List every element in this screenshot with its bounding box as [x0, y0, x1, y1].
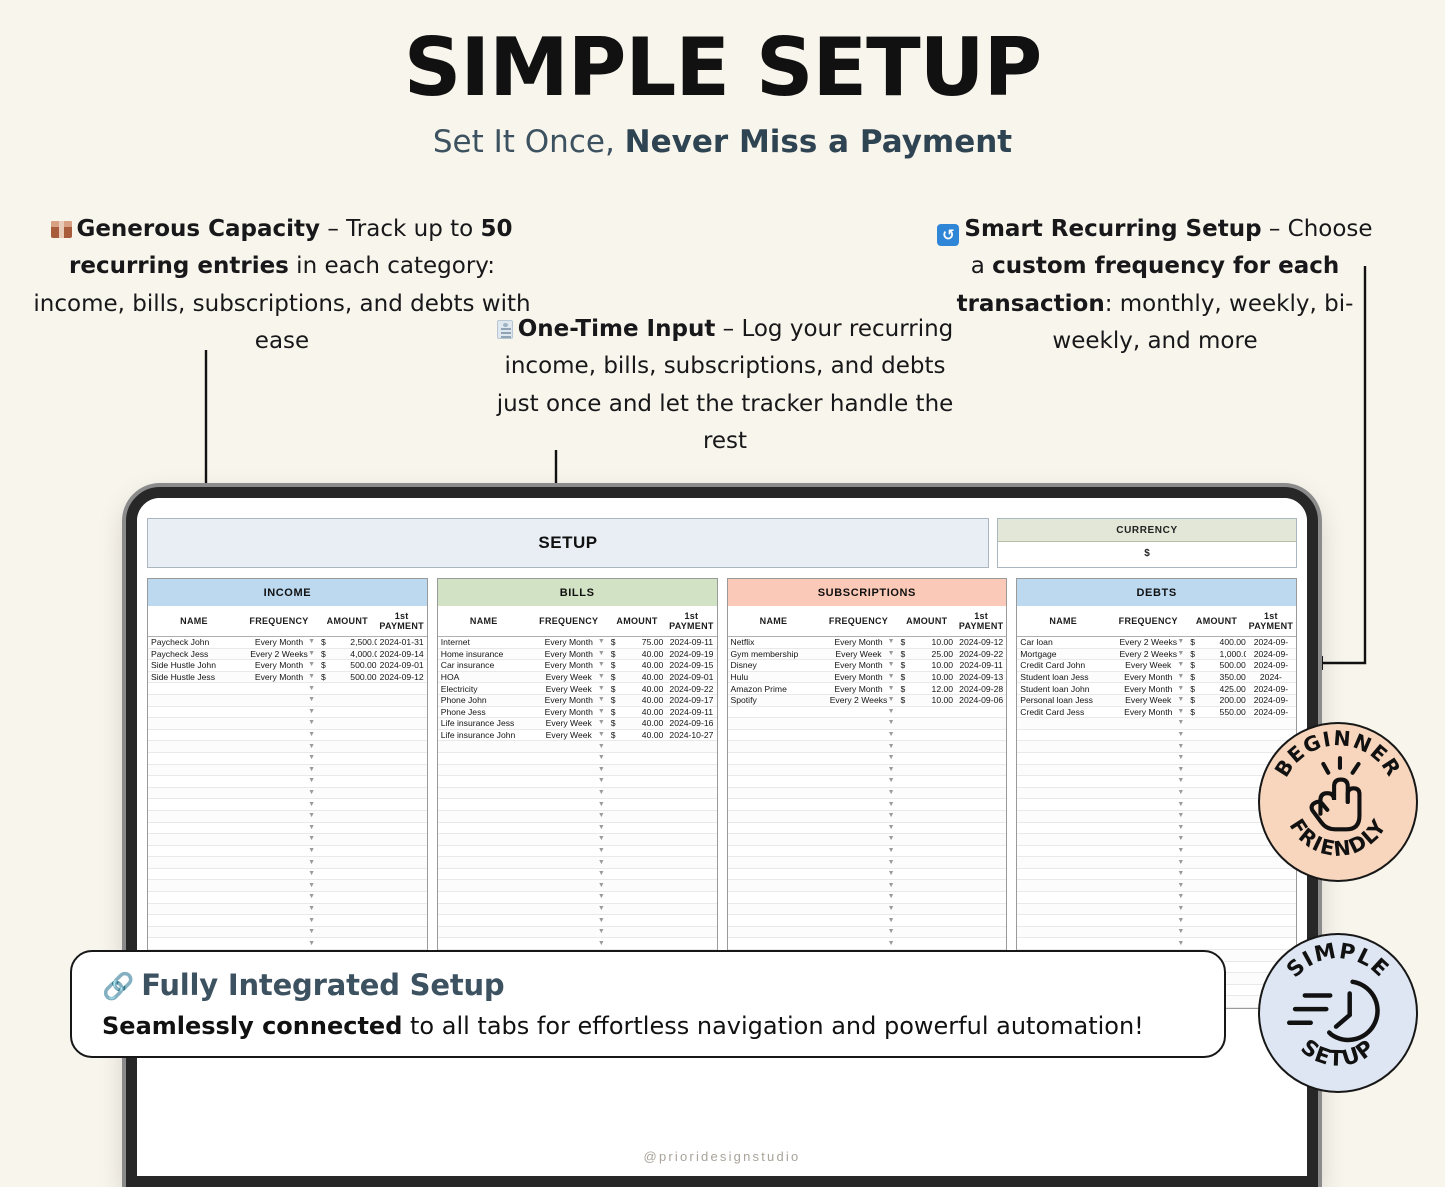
cell-frequency[interactable]: Every Week▼	[1109, 660, 1187, 672]
cell-amount[interactable]	[347, 857, 376, 869]
cell-first-payment[interactable]	[956, 752, 1006, 764]
table-row-empty[interactable]: ▼	[1017, 845, 1296, 857]
chevron-down-icon[interactable]: ▼	[1177, 743, 1184, 750]
chevron-down-icon[interactable]: ▼	[598, 743, 605, 750]
cell-name[interactable]: Spotify	[728, 694, 820, 706]
table-row-empty[interactable]: ▼	[1017, 752, 1296, 764]
table-row-empty[interactable]: ▼	[438, 834, 717, 846]
cell-first-payment[interactable]	[377, 938, 427, 950]
table-row-empty[interactable]: ▼	[438, 892, 717, 904]
cell-name[interactable]: Student loan John	[1017, 683, 1109, 695]
chevron-down-icon[interactable]: ▼	[888, 870, 895, 877]
column-header-1st-payment[interactable]: 1st PAYMENT	[666, 606, 716, 637]
cell-frequency[interactable]: ▼	[1109, 799, 1187, 811]
chevron-down-icon[interactable]: ▼	[1177, 650, 1184, 657]
cell-frequency[interactable]: ▼	[819, 729, 897, 741]
cell-name[interactable]: Side Hustle Jess	[148, 671, 240, 683]
cell-frequency[interactable]: Every Week▼	[530, 683, 608, 695]
table-row[interactable]: Amazon PrimeEvery Month▼$12.002024-09-28	[728, 683, 1007, 695]
cell-name[interactable]	[728, 892, 820, 904]
cell-amount[interactable]: 40.00	[637, 706, 666, 718]
cell-first-payment[interactable]	[956, 845, 1006, 857]
cell-name[interactable]	[728, 903, 820, 915]
table-row-empty[interactable]: ▼	[728, 892, 1007, 904]
table-row-empty[interactable]: ▼	[1017, 926, 1296, 938]
cell-frequency[interactable]: Every Month▼	[819, 637, 897, 649]
chevron-down-icon[interactable]: ▼	[1177, 638, 1184, 645]
table-row-empty[interactable]: ▼	[728, 729, 1007, 741]
cell-first-payment[interactable]	[956, 810, 1006, 822]
chevron-down-icon[interactable]: ▼	[888, 928, 895, 935]
table-row-empty[interactable]: ▼	[148, 787, 427, 799]
cell-name[interactable]	[728, 706, 820, 718]
cell-name[interactable]: Electricity	[438, 683, 530, 695]
cell-amount[interactable]: 12.00	[927, 683, 956, 695]
cell-frequency[interactable]: ▼	[1109, 810, 1187, 822]
table-row-empty[interactable]: ▼	[438, 880, 717, 892]
cell-first-payment[interactable]	[377, 926, 427, 938]
cell-first-payment[interactable]	[377, 718, 427, 730]
chevron-down-icon[interactable]: ▼	[598, 859, 605, 866]
chevron-down-icon[interactable]: ▼	[308, 708, 315, 715]
chevron-down-icon[interactable]: ▼	[598, 766, 605, 773]
cell-frequency[interactable]: ▼	[240, 810, 318, 822]
table-row-empty[interactable]: ▼	[728, 880, 1007, 892]
chevron-down-icon[interactable]: ▼	[1177, 905, 1184, 912]
cell-frequency[interactable]: ▼	[819, 706, 897, 718]
cell-first-payment[interactable]: 2024-09-01	[377, 660, 427, 672]
cell-name[interactable]	[1017, 915, 1109, 927]
currency-box[interactable]: CURRENCY $	[997, 518, 1297, 568]
cell-first-payment[interactable]: 2024-09-28	[956, 683, 1006, 695]
chevron-down-icon[interactable]: ▼	[888, 696, 895, 703]
table-row[interactable]: Gym membershipEvery Week▼$25.002024-09-2…	[728, 648, 1007, 660]
cell-first-payment[interactable]	[666, 764, 716, 776]
cell-frequency[interactable]: ▼	[819, 880, 897, 892]
chevron-down-icon[interactable]: ▼	[888, 789, 895, 796]
table-row-empty[interactable]: ▼	[1017, 810, 1296, 822]
chevron-down-icon[interactable]: ▼	[598, 708, 605, 715]
cell-frequency[interactable]: Every Month▼	[240, 671, 318, 683]
table-row-empty[interactable]: ▼	[148, 752, 427, 764]
chevron-down-icon[interactable]: ▼	[888, 882, 895, 889]
chevron-down-icon[interactable]: ▼	[308, 859, 315, 866]
cell-first-payment[interactable]	[956, 822, 1006, 834]
cell-frequency[interactable]: ▼	[240, 926, 318, 938]
table-row-empty[interactable]: ▼	[1017, 787, 1296, 799]
cell-frequency[interactable]: ▼	[240, 903, 318, 915]
chevron-down-icon[interactable]: ▼	[888, 743, 895, 750]
cell-frequency[interactable]: ▼	[819, 776, 897, 788]
table-row-empty[interactable]: ▼	[438, 868, 717, 880]
cell-amount[interactable]: 40.00	[637, 683, 666, 695]
cell-frequency[interactable]: ▼	[240, 915, 318, 927]
cell-amount[interactable]	[927, 706, 956, 718]
column-header-name[interactable]: NAME	[728, 606, 820, 637]
column-header-amount[interactable]: AMOUNT	[898, 606, 957, 637]
table-row-empty[interactable]: ▼	[438, 799, 717, 811]
cell-name[interactable]	[438, 741, 530, 753]
table-row-empty[interactable]: ▼	[728, 764, 1007, 776]
cell-frequency[interactable]: Every Month▼	[530, 706, 608, 718]
cell-first-payment[interactable]	[666, 799, 716, 811]
table-row[interactable]: Credit Card JohnEvery Week▼$500.002024-0…	[1017, 660, 1296, 672]
cell-name[interactable]	[1017, 903, 1109, 915]
cell-amount[interactable]: 400.00	[1217, 637, 1246, 649]
chevron-down-icon[interactable]: ▼	[888, 662, 895, 669]
table-row-empty[interactable]: ▼	[1017, 880, 1296, 892]
cell-first-payment[interactable]	[377, 822, 427, 834]
cell-amount[interactable]	[637, 880, 666, 892]
cell-name[interactable]: Credit Card John	[1017, 660, 1109, 672]
chevron-down-icon[interactable]: ▼	[888, 708, 895, 715]
table-row-empty[interactable]: ▼	[438, 741, 717, 753]
cell-frequency[interactable]: ▼	[819, 868, 897, 880]
cell-first-payment[interactable]	[377, 729, 427, 741]
cell-name[interactable]	[728, 845, 820, 857]
table-row-empty[interactable]: ▼	[438, 845, 717, 857]
cell-frequency[interactable]: ▼	[1109, 834, 1187, 846]
cell-frequency[interactable]: Every Month▼	[819, 671, 897, 683]
cell-name[interactable]	[148, 810, 240, 822]
table-row-empty[interactable]: ▼	[728, 926, 1007, 938]
cell-frequency[interactable]: ▼	[1109, 776, 1187, 788]
chevron-down-icon[interactable]: ▼	[308, 720, 315, 727]
cell-frequency[interactable]: ▼	[819, 741, 897, 753]
chevron-down-icon[interactable]: ▼	[1177, 731, 1184, 738]
cell-amount[interactable]: 75.00	[637, 637, 666, 649]
cell-amount[interactable]: 2,500.00	[347, 637, 376, 649]
cell-first-payment[interactable]: 2024-10-27	[666, 729, 716, 741]
chevron-down-icon[interactable]: ▼	[1177, 894, 1184, 901]
table-row-empty[interactable]: ▼	[1017, 741, 1296, 753]
chevron-down-icon[interactable]: ▼	[1177, 673, 1184, 680]
cell-first-payment[interactable]	[666, 926, 716, 938]
cell-frequency[interactable]: ▼	[530, 810, 608, 822]
cell-amount[interactable]	[1217, 822, 1246, 834]
cell-first-payment[interactable]: 2024-09-11	[666, 706, 716, 718]
chevron-down-icon[interactable]: ▼	[1177, 824, 1184, 831]
table-row-empty[interactable]: ▼	[1017, 764, 1296, 776]
cell-first-payment[interactable]: 2024-09-	[1246, 706, 1296, 718]
chevron-down-icon[interactable]: ▼	[308, 638, 315, 645]
cell-amount[interactable]	[927, 729, 956, 741]
cell-name[interactable]: HOA	[438, 671, 530, 683]
table-row-empty[interactable]: ▼	[728, 810, 1007, 822]
cell-frequency[interactable]: ▼	[240, 845, 318, 857]
cell-first-payment[interactable]: 2024-09-15	[666, 660, 716, 672]
cell-frequency[interactable]: ▼	[1109, 741, 1187, 753]
cell-name[interactable]	[438, 880, 530, 892]
cell-frequency[interactable]: ▼	[530, 776, 608, 788]
table-row[interactable]: Paycheck JohnEvery Month▼$2,500.002024-0…	[148, 637, 427, 649]
cell-name[interactable]	[148, 764, 240, 776]
table-row-empty[interactable]: ▼	[148, 706, 427, 718]
table-subscriptions[interactable]: NAMEFREQUENCYAMOUNT1st PAYMENTNetflixEve…	[728, 606, 1007, 1008]
cell-first-payment[interactable]: 2024-09-22	[666, 683, 716, 695]
cell-amount[interactable]	[637, 857, 666, 869]
table-row-empty[interactable]: ▼	[148, 938, 427, 950]
cell-frequency[interactable]: Every 2 Weeks▼	[819, 694, 897, 706]
table-row-empty[interactable]: ▼	[728, 903, 1007, 915]
table-row[interactable]: Phone JohnEvery Month▼$40.002024-09-17	[438, 694, 717, 706]
cell-first-payment[interactable]	[956, 706, 1006, 718]
column-header-amount[interactable]: AMOUNT	[318, 606, 377, 637]
cell-first-payment[interactable]: 2024-09-11	[666, 637, 716, 649]
cell-first-payment[interactable]: 2024-09-22	[956, 648, 1006, 660]
table-debts[interactable]: NAMEFREQUENCYAMOUNT1st PAYMENTCar loanEv…	[1017, 606, 1296, 1008]
table-row[interactable]: Credit Card JessEvery Month▼$550.002024-…	[1017, 706, 1296, 718]
cell-first-payment[interactable]	[956, 892, 1006, 904]
cell-amount[interactable]	[347, 776, 376, 788]
table-row-empty[interactable]: ▼	[148, 822, 427, 834]
chevron-down-icon[interactable]: ▼	[308, 836, 315, 843]
table-row-empty[interactable]: ▼	[1017, 718, 1296, 730]
cell-first-payment[interactable]	[666, 741, 716, 753]
cell-name[interactable]	[728, 741, 820, 753]
cell-first-payment[interactable]	[956, 868, 1006, 880]
chevron-down-icon[interactable]: ▼	[598, 650, 605, 657]
cell-name[interactable]	[1017, 752, 1109, 764]
cell-first-payment[interactable]	[666, 776, 716, 788]
chevron-down-icon[interactable]: ▼	[598, 812, 605, 819]
chevron-down-icon[interactable]: ▼	[598, 870, 605, 877]
table-row-empty[interactable]: ▼	[438, 752, 717, 764]
cell-amount[interactable]	[1217, 810, 1246, 822]
cell-name[interactable]	[728, 926, 820, 938]
column-header-1st-payment[interactable]: 1st PAYMENT	[377, 606, 427, 637]
cell-first-payment[interactable]: 2024-09-16	[666, 718, 716, 730]
cell-first-payment[interactable]	[377, 683, 427, 695]
cell-frequency[interactable]: ▼	[819, 903, 897, 915]
cell-first-payment[interactable]	[377, 764, 427, 776]
chevron-down-icon[interactable]: ▼	[1177, 801, 1184, 808]
chevron-down-icon[interactable]: ▼	[1177, 859, 1184, 866]
chevron-down-icon[interactable]: ▼	[888, 766, 895, 773]
column-header-frequency[interactable]: FREQUENCY	[240, 606, 318, 637]
cell-name[interactable]	[728, 834, 820, 846]
cell-first-payment[interactable]	[666, 787, 716, 799]
cell-frequency[interactable]: Every 2 Weeks▼	[240, 648, 318, 660]
chevron-down-icon[interactable]: ▼	[598, 720, 605, 727]
cell-name[interactable]	[148, 822, 240, 834]
table-row[interactable]: HuluEvery Month▼$10.002024-09-13	[728, 671, 1007, 683]
cell-amount[interactable]	[637, 764, 666, 776]
cell-name[interactable]: Internet	[438, 637, 530, 649]
chevron-down-icon[interactable]: ▼	[888, 824, 895, 831]
cell-first-payment[interactable]	[377, 776, 427, 788]
table-row-empty[interactable]: ▼	[148, 868, 427, 880]
cell-name[interactable]	[148, 938, 240, 950]
chevron-down-icon[interactable]: ▼	[888, 905, 895, 912]
cell-amount[interactable]	[347, 810, 376, 822]
cell-frequency[interactable]: ▼	[819, 718, 897, 730]
table-row[interactable]: Life insurance JohnEvery Week▼$40.002024…	[438, 729, 717, 741]
cell-frequency[interactable]: Every Month▼	[1109, 706, 1187, 718]
table-row-empty[interactable]: ▼	[148, 915, 427, 927]
table-row-empty[interactable]: ▼	[148, 857, 427, 869]
cell-name[interactable]	[438, 764, 530, 776]
cell-name[interactable]: Phone Jess	[438, 706, 530, 718]
cell-first-payment[interactable]	[666, 834, 716, 846]
cell-amount[interactable]	[927, 938, 956, 950]
cell-amount[interactable]: 500.00	[347, 660, 376, 672]
cell-first-payment[interactable]	[1246, 915, 1296, 927]
cell-frequency[interactable]: Every Month▼	[1109, 671, 1187, 683]
cell-name[interactable]	[438, 938, 530, 950]
cell-name[interactable]	[148, 729, 240, 741]
cell-amount[interactable]	[637, 752, 666, 764]
cell-amount[interactable]	[637, 787, 666, 799]
cell-first-payment[interactable]	[956, 776, 1006, 788]
cell-name[interactable]: Car loan	[1017, 637, 1109, 649]
cell-amount[interactable]	[1217, 752, 1246, 764]
cell-frequency[interactable]: ▼	[530, 868, 608, 880]
cell-frequency[interactable]: ▼	[1109, 787, 1187, 799]
table-row-empty[interactable]: ▼	[438, 810, 717, 822]
chevron-down-icon[interactable]: ▼	[308, 650, 315, 657]
cell-frequency[interactable]: ▼	[530, 892, 608, 904]
chevron-down-icon[interactable]: ▼	[888, 859, 895, 866]
cell-amount[interactable]	[637, 915, 666, 927]
cell-first-payment[interactable]	[956, 741, 1006, 753]
cell-first-payment[interactable]: 2024-	[1246, 671, 1296, 683]
cell-frequency[interactable]: ▼	[1109, 764, 1187, 776]
chevron-down-icon[interactable]: ▼	[308, 940, 315, 947]
cell-amount[interactable]	[347, 729, 376, 741]
chevron-down-icon[interactable]: ▼	[888, 673, 895, 680]
chevron-down-icon[interactable]: ▼	[598, 696, 605, 703]
table-row-empty[interactable]: ▼	[1017, 938, 1296, 950]
chevron-down-icon[interactable]: ▼	[598, 778, 605, 785]
cell-amount[interactable]	[927, 868, 956, 880]
cell-amount[interactable]	[927, 834, 956, 846]
table-row-empty[interactable]: ▼	[438, 903, 717, 915]
cell-frequency[interactable]: ▼	[530, 926, 608, 938]
cell-frequency[interactable]: ▼	[530, 752, 608, 764]
chevron-down-icon[interactable]: ▼	[598, 638, 605, 645]
cell-first-payment[interactable]	[666, 938, 716, 950]
cell-first-payment[interactable]	[666, 868, 716, 880]
cell-first-payment[interactable]	[956, 915, 1006, 927]
cell-name[interactable]	[728, 822, 820, 834]
cell-first-payment[interactable]	[666, 903, 716, 915]
table-row[interactable]: ElectricityEvery Week▼$40.002024-09-22	[438, 683, 717, 695]
cell-amount[interactable]	[637, 868, 666, 880]
cell-amount[interactable]: 40.00	[637, 660, 666, 672]
cell-frequency[interactable]: ▼	[819, 857, 897, 869]
cell-frequency[interactable]: ▼	[240, 822, 318, 834]
cell-name[interactable]	[728, 799, 820, 811]
cell-name[interactable]	[1017, 857, 1109, 869]
table-row-empty[interactable]: ▼	[438, 926, 717, 938]
cell-frequency[interactable]: ▼	[819, 799, 897, 811]
chevron-down-icon[interactable]: ▼	[598, 662, 605, 669]
table-row-empty[interactable]: ▼	[728, 834, 1007, 846]
chevron-down-icon[interactable]: ▼	[1177, 696, 1184, 703]
chevron-down-icon[interactable]: ▼	[888, 836, 895, 843]
cell-name[interactable]	[1017, 718, 1109, 730]
cell-amount[interactable]	[637, 938, 666, 950]
cell-name[interactable]: Car insurance	[438, 660, 530, 672]
column-header-frequency[interactable]: FREQUENCY	[530, 606, 608, 637]
table-row-empty[interactable]: ▼	[438, 787, 717, 799]
cell-name[interactable]: Disney	[728, 660, 820, 672]
cell-amount[interactable]	[347, 938, 376, 950]
table-row-empty[interactable]: ▼	[728, 938, 1007, 950]
cell-first-payment[interactable]	[1246, 892, 1296, 904]
table-row[interactable]: InternetEvery Month▼$75.002024-09-11	[438, 637, 717, 649]
cell-amount[interactable]	[927, 810, 956, 822]
table-row-empty[interactable]: ▼	[1017, 868, 1296, 880]
cell-frequency[interactable]: Every Month▼	[1109, 683, 1187, 695]
cell-frequency[interactable]: ▼	[819, 915, 897, 927]
column-header-name[interactable]: NAME	[1017, 606, 1109, 637]
cell-name[interactable]	[148, 892, 240, 904]
table-row-empty[interactable]: ▼	[148, 718, 427, 730]
table-row-empty[interactable]: ▼	[728, 822, 1007, 834]
chevron-down-icon[interactable]: ▼	[308, 824, 315, 831]
cell-amount[interactable]: 4,000.00	[347, 648, 376, 660]
table-row-empty[interactable]: ▼	[1017, 822, 1296, 834]
cell-amount[interactable]	[927, 892, 956, 904]
cell-frequency[interactable]: ▼	[240, 834, 318, 846]
cell-name[interactable]	[438, 915, 530, 927]
chevron-down-icon[interactable]: ▼	[308, 754, 315, 761]
cell-frequency[interactable]: Every Week▼	[530, 671, 608, 683]
cell-first-payment[interactable]	[666, 892, 716, 904]
table-row-empty[interactable]: ▼	[728, 706, 1007, 718]
chevron-down-icon[interactable]: ▼	[1177, 847, 1184, 854]
column-header-amount[interactable]: AMOUNT	[1187, 606, 1246, 637]
cell-frequency[interactable]: Every Month▼	[240, 637, 318, 649]
table-row-empty[interactable]: ▼	[148, 892, 427, 904]
table-row[interactable]: SpotifyEvery 2 Weeks▼$10.002024-09-06	[728, 694, 1007, 706]
cell-amount[interactable]: 350.00	[1217, 671, 1246, 683]
cell-first-payment[interactable]	[956, 903, 1006, 915]
table-row[interactable]: Car insuranceEvery Month▼$40.002024-09-1…	[438, 660, 717, 672]
chevron-down-icon[interactable]: ▼	[308, 743, 315, 750]
cell-first-payment[interactable]	[377, 706, 427, 718]
cell-first-payment[interactable]	[377, 799, 427, 811]
table-row-empty[interactable]: ▼	[728, 776, 1007, 788]
cell-name[interactable]	[148, 718, 240, 730]
cell-frequency[interactable]: ▼	[819, 892, 897, 904]
cell-name[interactable]	[438, 799, 530, 811]
table-row-empty[interactable]: ▼	[728, 857, 1007, 869]
cell-amount[interactable]	[347, 718, 376, 730]
cell-name[interactable]	[728, 764, 820, 776]
cell-name[interactable]	[438, 834, 530, 846]
chevron-down-icon[interactable]: ▼	[308, 917, 315, 924]
table-bills[interactable]: NAMEFREQUENCYAMOUNT1st PAYMENTInternetEv…	[438, 606, 717, 1008]
cell-name[interactable]	[728, 729, 820, 741]
table-row-empty[interactable]: ▼	[1017, 834, 1296, 846]
cell-frequency[interactable]: ▼	[819, 926, 897, 938]
cell-frequency[interactable]: ▼	[240, 868, 318, 880]
cell-name[interactable]	[148, 776, 240, 788]
cell-name[interactable]	[728, 787, 820, 799]
column-header-1st-payment[interactable]: 1st PAYMENT	[1246, 606, 1296, 637]
cell-frequency[interactable]: ▼	[1109, 868, 1187, 880]
chevron-down-icon[interactable]: ▼	[598, 801, 605, 808]
cell-frequency[interactable]: ▼	[240, 787, 318, 799]
cell-frequency[interactable]: ▼	[240, 729, 318, 741]
chevron-down-icon[interactable]: ▼	[308, 812, 315, 819]
spreadsheet-screen[interactable]: SETUP CURRENCY $ INCOMENAMEFREQUENCYAMOU…	[137, 498, 1307, 1176]
cell-frequency[interactable]: Every Month▼	[240, 660, 318, 672]
table-row[interactable]: Side Hustle JessEvery Month▼$500.002024-…	[148, 671, 427, 683]
